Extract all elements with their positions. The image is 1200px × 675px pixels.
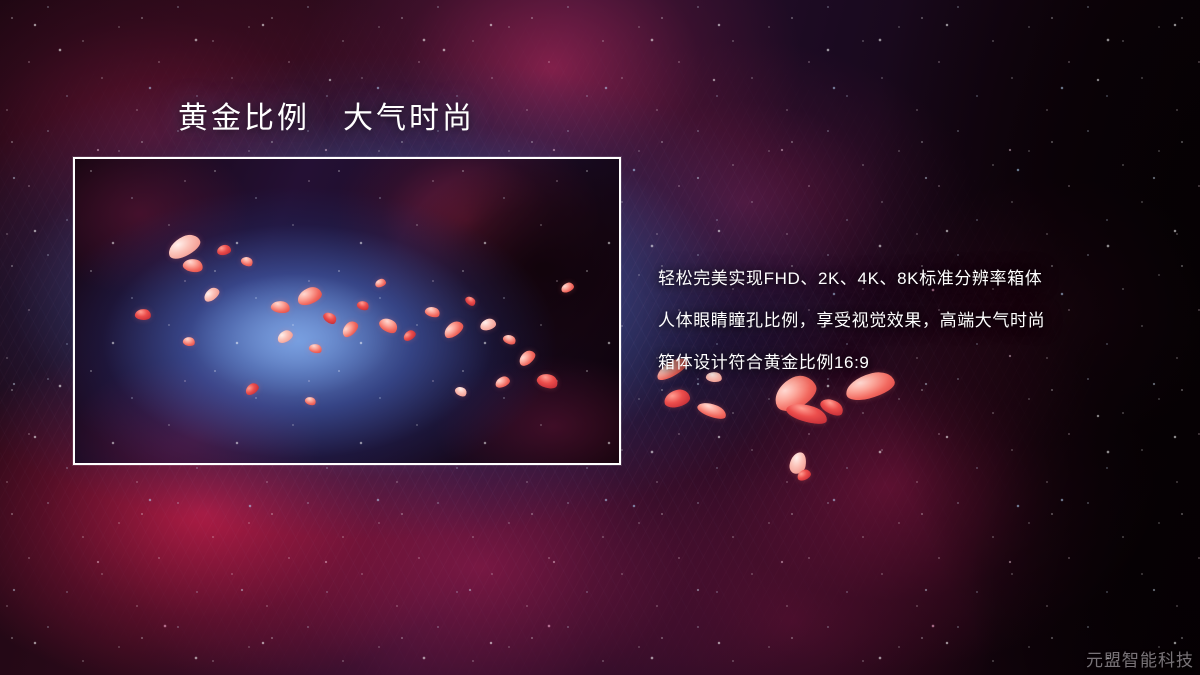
picture-frame-starfield	[75, 159, 619, 463]
petal	[784, 399, 829, 428]
body-copy: 轻松完美实现FHD、2K、4K、8K标准分辨率箱体 人体眼睛瞳孔比例，享受视觉效…	[658, 258, 1158, 384]
slide-canvas: 黄金比例 大气时尚 轻松完美实现FHD、2K、4K、8K标准分辨率箱体 人体眼睛…	[0, 0, 1200, 675]
petal	[818, 395, 846, 419]
body-line-3: 箱体设计符合黄金比例16:9	[658, 342, 1158, 384]
petal	[796, 468, 813, 482]
body-line-2: 人体眼睛瞳孔比例，享受视觉效果，高端大气时尚	[658, 300, 1158, 342]
page-title: 黄金比例 大气时尚	[178, 102, 475, 136]
watermark: 元盟智能科技	[1086, 646, 1194, 671]
picture-frame	[73, 157, 621, 465]
body-line-1: 轻松完美实现FHD、2K、4K、8K标准分辨率箱体	[658, 258, 1158, 300]
petal	[663, 388, 692, 409]
petal	[788, 451, 808, 475]
petal	[696, 399, 729, 422]
